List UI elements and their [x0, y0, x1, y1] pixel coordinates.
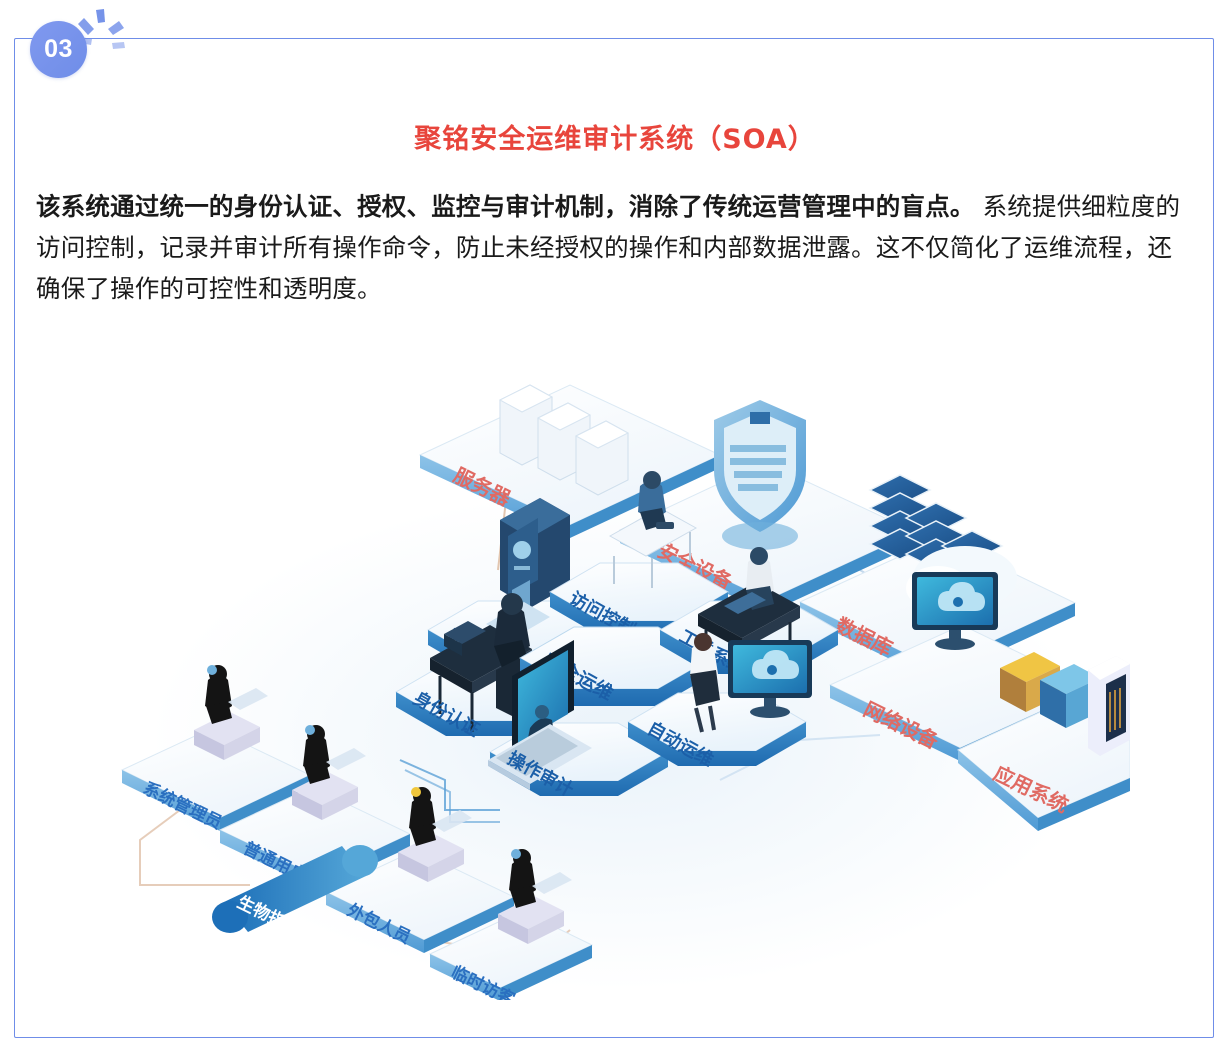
description-lead: 该系统通过统一的身份认证、授权、监控与审计机制，消除了传统运营管理中的盲点。 — [36, 192, 975, 221]
description-paragraph: 该系统通过统一的身份认证、授权、监控与审计机制，消除了传统运营管理中的盲点。 系… — [36, 186, 1196, 309]
badge-circle: 03 — [30, 21, 87, 78]
badge-number: 03 — [44, 37, 73, 62]
architecture-illustration: 服务器 安全设备 — [100, 340, 1130, 1000]
section-number-badge: 03 — [30, 21, 150, 101]
page-title: 聚铭安全运维审计系统（SOA） — [0, 117, 1230, 156]
